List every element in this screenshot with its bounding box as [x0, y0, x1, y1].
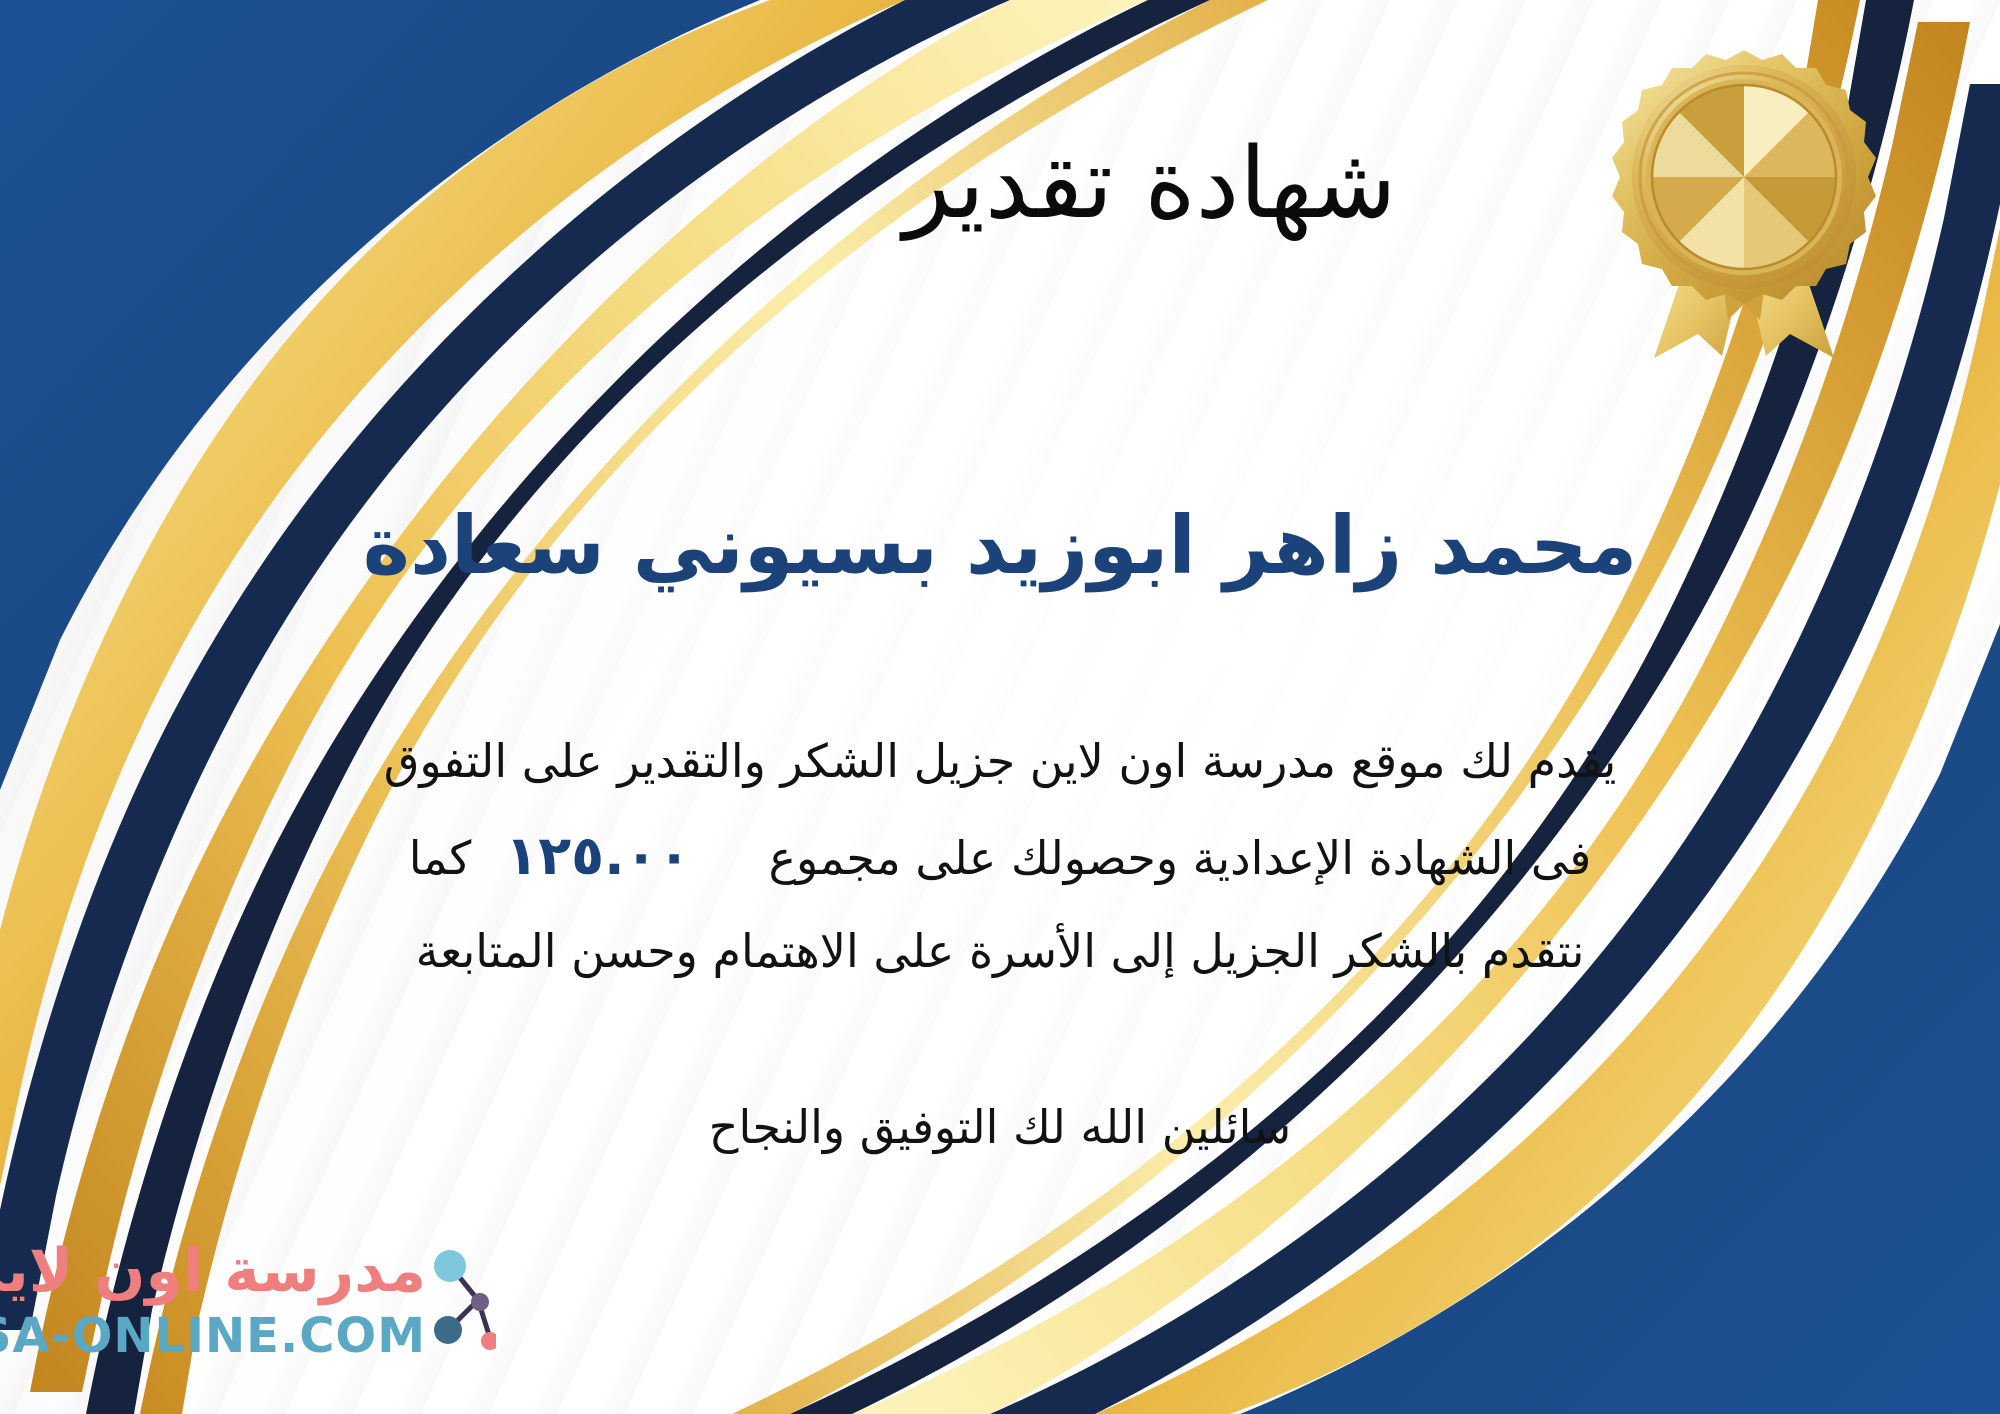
brand-domain-text: MADRSA-ONLINE.COM [0, 1308, 426, 1364]
body-line-3: نتقدم بالشكر الجزيل إلى الأسرة على الاهت… [60, 908, 1940, 995]
closing-wish-line: سائلين الله لك التوفيق والنجاح [0, 1100, 2000, 1154]
certificate-body: يقدم لك موقع مدرسة اون لاين جزيل الشكر و… [60, 718, 1940, 995]
body-line-1: يقدم لك موقع مدرسة اون لاين جزيل الشكر و… [60, 718, 1940, 805]
certificate-content: شهادة تقدير محمد زاهر ابوزيد بسيوني سعاد… [0, 0, 2000, 1414]
body-line-2: فى الشهادة الإعدادية وحصولك على مجموع١٢٥… [60, 805, 1940, 908]
recipient-name: محمد زاهر ابوزيد بسيوني سعادة [0, 498, 2000, 594]
brand-logo[interactable]: مدرسة اون لاين MADRSA-ONLINE.COM [26, 1230, 496, 1390]
body-line-2-suffix: كما [409, 831, 472, 885]
grade-total-value: ١٢٥.٠٠ [471, 824, 724, 887]
brand-arabic-name: مدرسة اون لاين [0, 1236, 426, 1306]
page-title: شهادة تقدير [0, 128, 2000, 241]
certificate-page: شهادة تقدير محمد زاهر ابوزيد بسيوني سعاد… [0, 0, 2000, 1414]
network-nodes-icon [424, 1242, 496, 1360]
body-line-2-prefix: فى الشهادة الإعدادية وحصولك على مجموع [769, 831, 1592, 885]
